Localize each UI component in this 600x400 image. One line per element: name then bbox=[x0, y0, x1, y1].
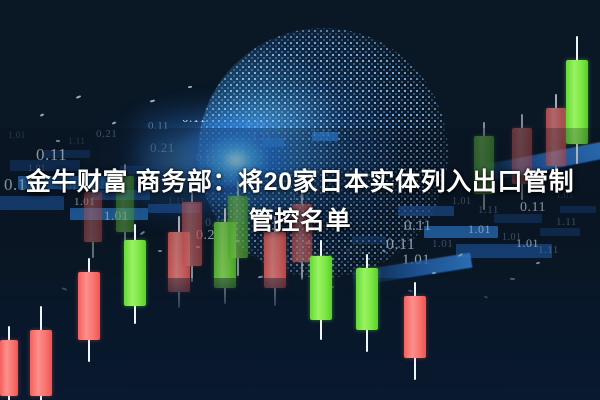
candle-body bbox=[78, 272, 100, 340]
news-banner-image: 0.110.111.011.011.111.010.211.011.010.11… bbox=[0, 0, 600, 400]
candle-02 bbox=[78, 258, 100, 362]
headline-line-2: 管控名单 bbox=[16, 202, 584, 241]
candle-body bbox=[404, 296, 426, 358]
candle-07 bbox=[310, 240, 332, 340]
data-value-label: 0.11 bbox=[182, 120, 206, 126]
headline-line-1: 金牛财富 商务部：将20家日本实体列入出口管制 bbox=[16, 163, 584, 202]
candle-body bbox=[30, 330, 52, 396]
candle-10 bbox=[0, 326, 18, 400]
candle-body bbox=[0, 340, 18, 396]
candle-body bbox=[124, 240, 146, 306]
candle-body bbox=[356, 268, 378, 330]
candle-01 bbox=[30, 306, 52, 400]
candle-08 bbox=[356, 254, 378, 352]
headline: 金牛财富 商务部：将20家日本实体列入出口管制 管控名单 bbox=[0, 163, 600, 241]
candle-09 bbox=[404, 282, 426, 380]
candle-body bbox=[310, 256, 332, 320]
